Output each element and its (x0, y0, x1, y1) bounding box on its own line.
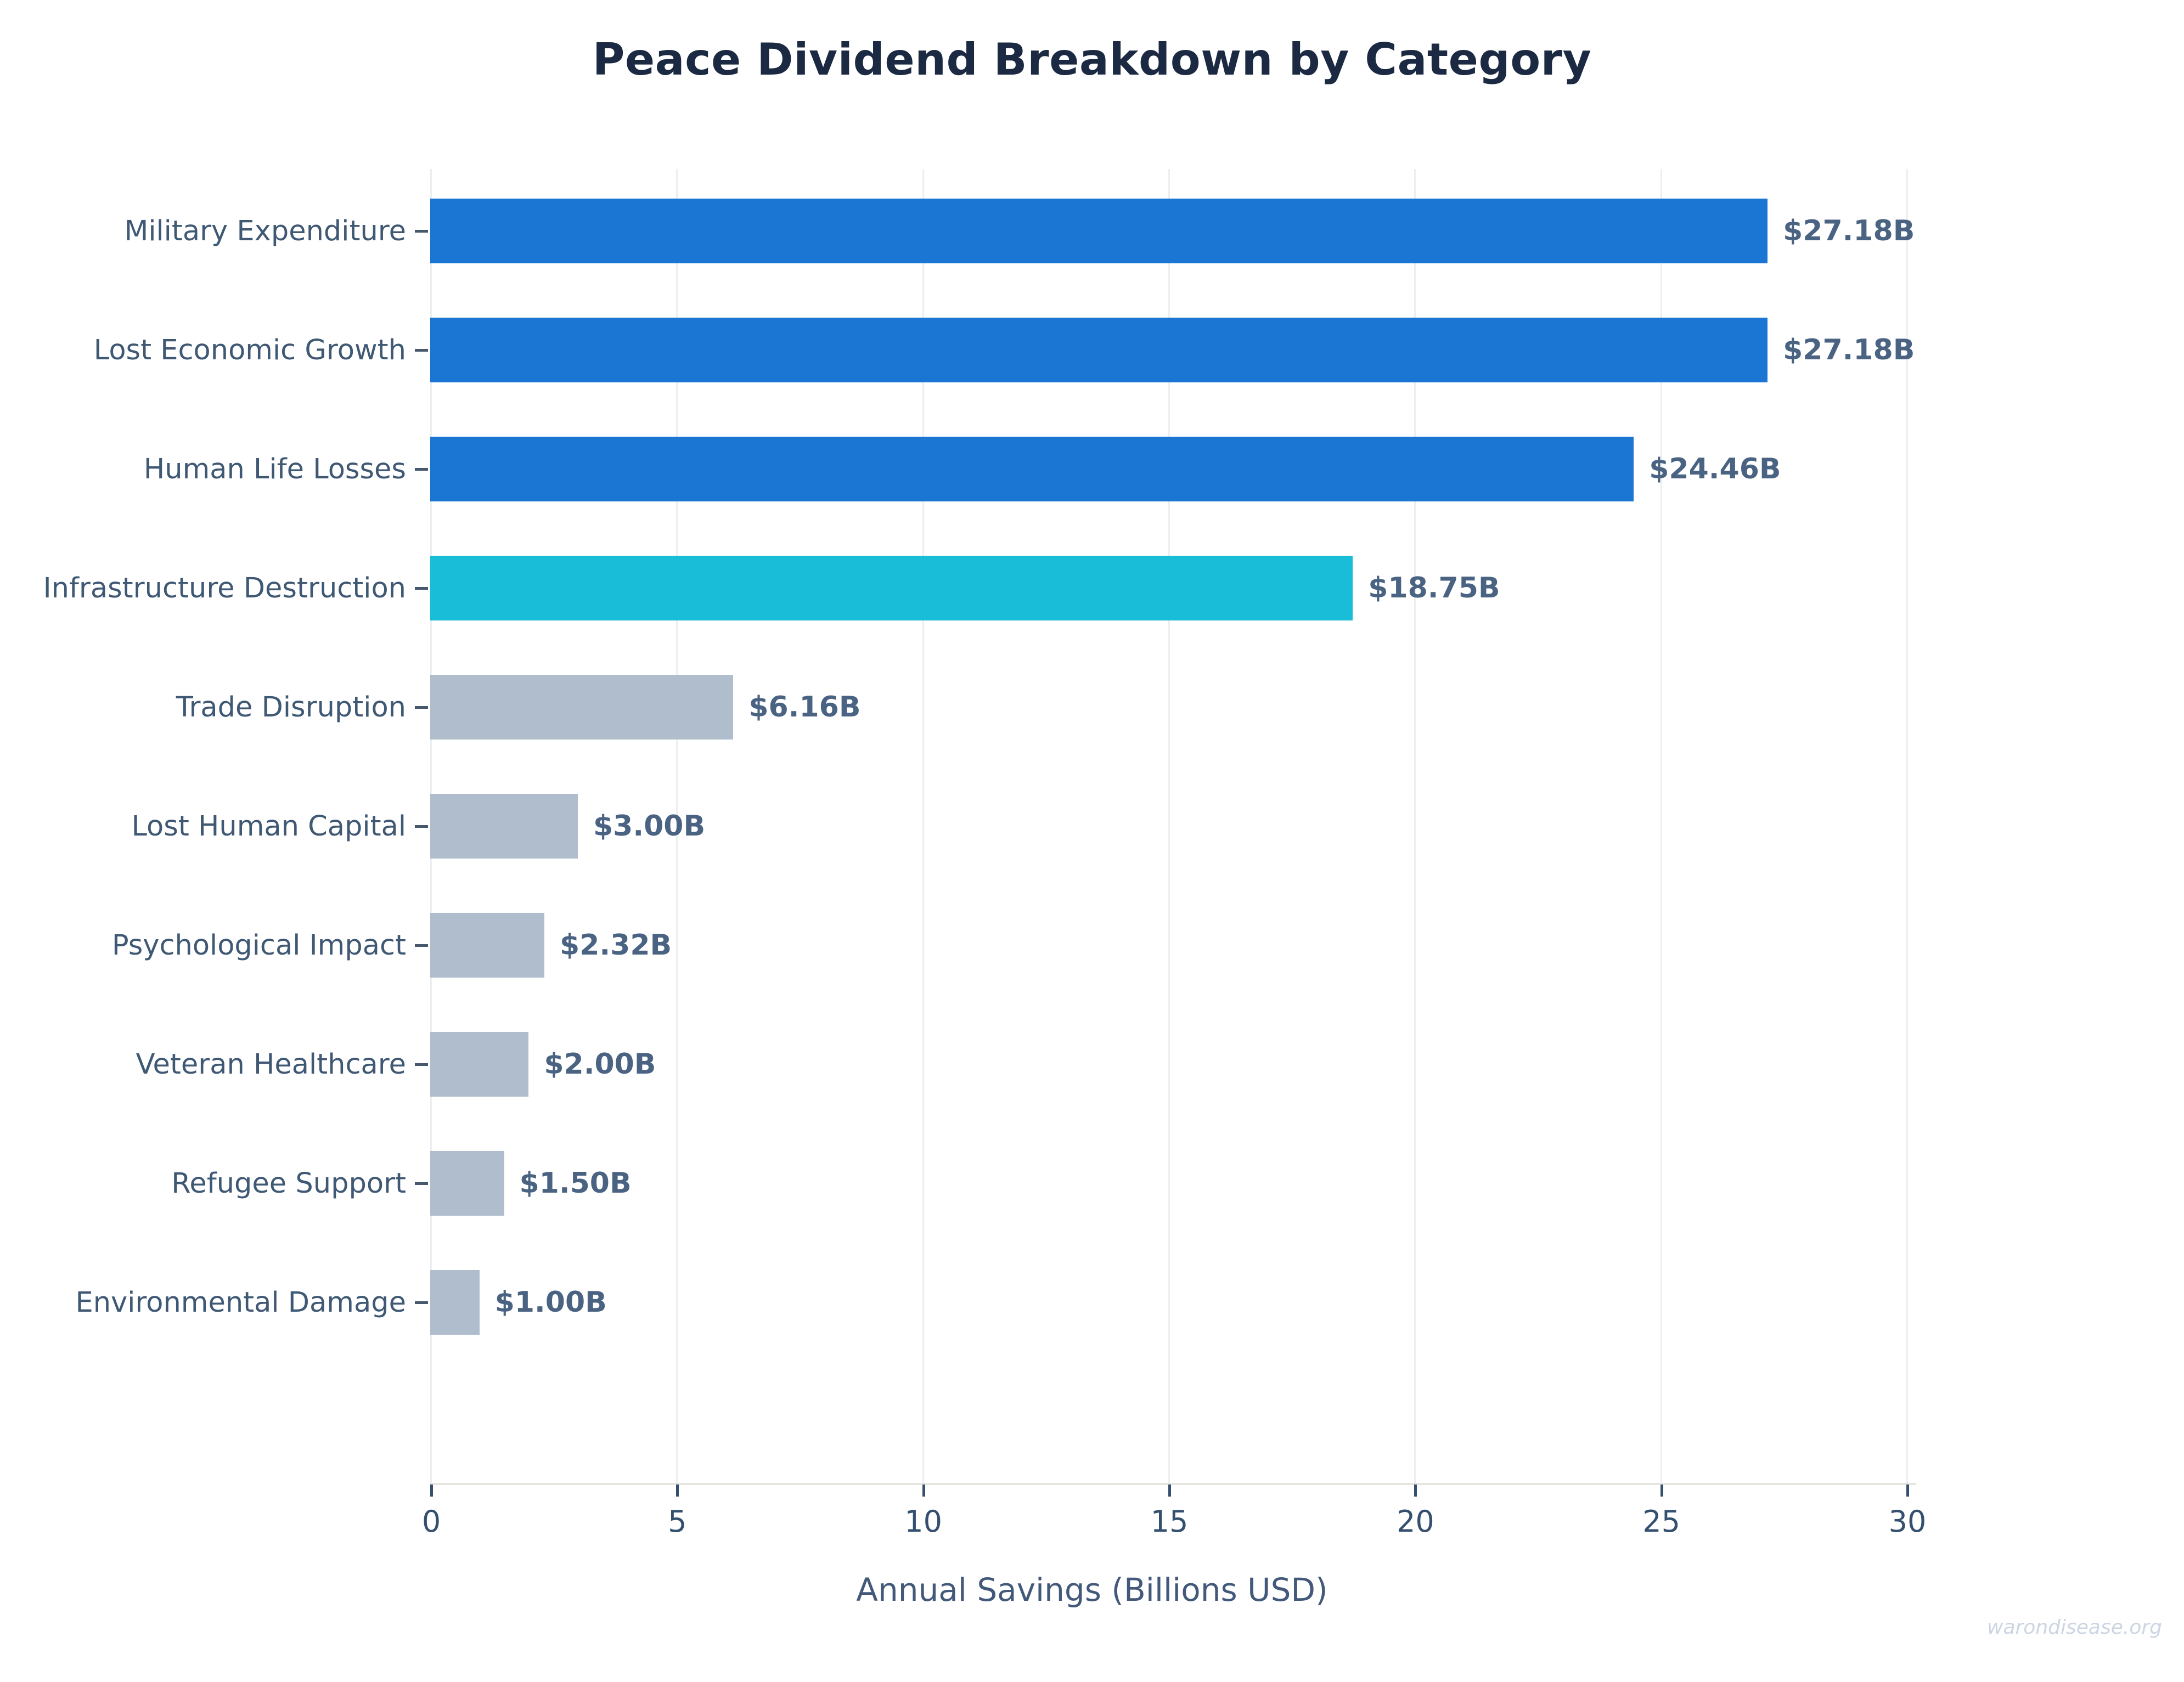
x-axis-line (430, 1483, 1916, 1485)
bar-value-label: $18.75B (1353, 556, 1500, 620)
y-axis-label-environmental-damage: Environmental Damage (0, 1270, 423, 1335)
x-axis-tick-label-0: 0 (422, 1504, 441, 1539)
x-axis-tick-5 (676, 1485, 679, 1497)
y-axis-label-lost-human-capital: Lost Human Capital (0, 794, 423, 859)
bar[interactable] (430, 1032, 528, 1097)
x-axis-tick-20 (1414, 1485, 1417, 1497)
x-axis-tick-25 (1660, 1485, 1663, 1497)
y-axis-label-military-expenditure: Military Expenditure (0, 199, 423, 263)
bar-value-label: $2.00B (528, 1032, 656, 1097)
bar[interactable] (430, 199, 1768, 263)
bar-value-label: $3.00B (578, 794, 705, 859)
bar[interactable] (430, 675, 733, 740)
page-title: Peace Dividend Breakdown by Category (0, 34, 2184, 85)
x-axis-tick-label-5: 5 (668, 1504, 686, 1539)
bar[interactable] (430, 794, 578, 859)
x-axis-title: Annual Savings (Billions USD) (0, 1571, 2184, 1608)
x-axis-tick-label-15: 15 (1151, 1504, 1189, 1539)
y-axis-label-human-life-losses: Human Life Losses (0, 437, 423, 501)
bar[interactable] (430, 1151, 504, 1216)
bar-value-label: $1.00B (480, 1270, 607, 1335)
x-axis-tick-10 (922, 1485, 925, 1497)
bar-value-label: $2.32B (544, 913, 672, 978)
bar-row: $18.75BInfrastructure Destruction (430, 528, 1906, 647)
bar-row: $27.18BMilitary Expenditure (430, 171, 1906, 290)
x-axis-tick-0 (430, 1485, 433, 1497)
chart-figure: Peace Dividend Breakdown by Category $27… (0, 0, 2184, 1682)
bar-value-label: $27.18B (1768, 199, 1915, 263)
bar-row: $27.18BLost Economic Growth (430, 290, 1906, 409)
bar-row: $24.46BHuman Life Losses (430, 409, 1906, 528)
x-axis-tick-label-20: 20 (1397, 1504, 1434, 1539)
bar[interactable] (430, 318, 1768, 382)
y-axis-label-refugee-support: Refugee Support (0, 1151, 423, 1216)
y-axis-label-infrastructure-destruction: Infrastructure Destruction (0, 556, 423, 620)
y-axis-label-veteran-healthcare: Veteran Healthcare (0, 1032, 423, 1097)
bar[interactable] (430, 556, 1353, 620)
x-axis-tick-label-10: 10 (904, 1504, 942, 1539)
bar-row: $1.00BEnvironmental Damage (430, 1243, 1906, 1362)
y-axis-label-lost-economic-growth: Lost Economic Growth (0, 318, 423, 382)
watermark: warondisease.org (1987, 1616, 2162, 1639)
bar[interactable] (430, 437, 1634, 501)
bar[interactable] (430, 913, 544, 978)
bar-row: $1.50BRefugee Support (430, 1124, 1906, 1243)
x-axis-tick-label-25: 25 (1642, 1504, 1680, 1539)
x-axis-tick-30 (1906, 1485, 1909, 1497)
bar-row: $2.00BVeteran Healthcare (430, 1004, 1906, 1124)
bar-value-label: $1.50B (504, 1151, 632, 1216)
bar-value-label: $24.46B (1634, 437, 1781, 501)
y-axis-label-trade-disruption: Trade Disruption (0, 675, 423, 740)
bar-value-label: $27.18B (1768, 318, 1915, 382)
y-axis-label-psychological-impact: Psychological Impact (0, 913, 423, 978)
x-axis-tick-15 (1168, 1485, 1171, 1497)
bar-row: $2.32BPsychological Impact (430, 885, 1906, 1004)
bar[interactable] (430, 1270, 480, 1335)
bar-value-label: $6.16B (733, 675, 860, 740)
plot-area: $27.18BMilitary Expenditure$27.18BLost E… (430, 169, 1906, 1483)
bar-row: $6.16BTrade Disruption (430, 647, 1906, 766)
bar-row: $3.00BLost Human Capital (430, 766, 1906, 885)
x-axis-tick-label-30: 30 (1889, 1504, 1927, 1539)
